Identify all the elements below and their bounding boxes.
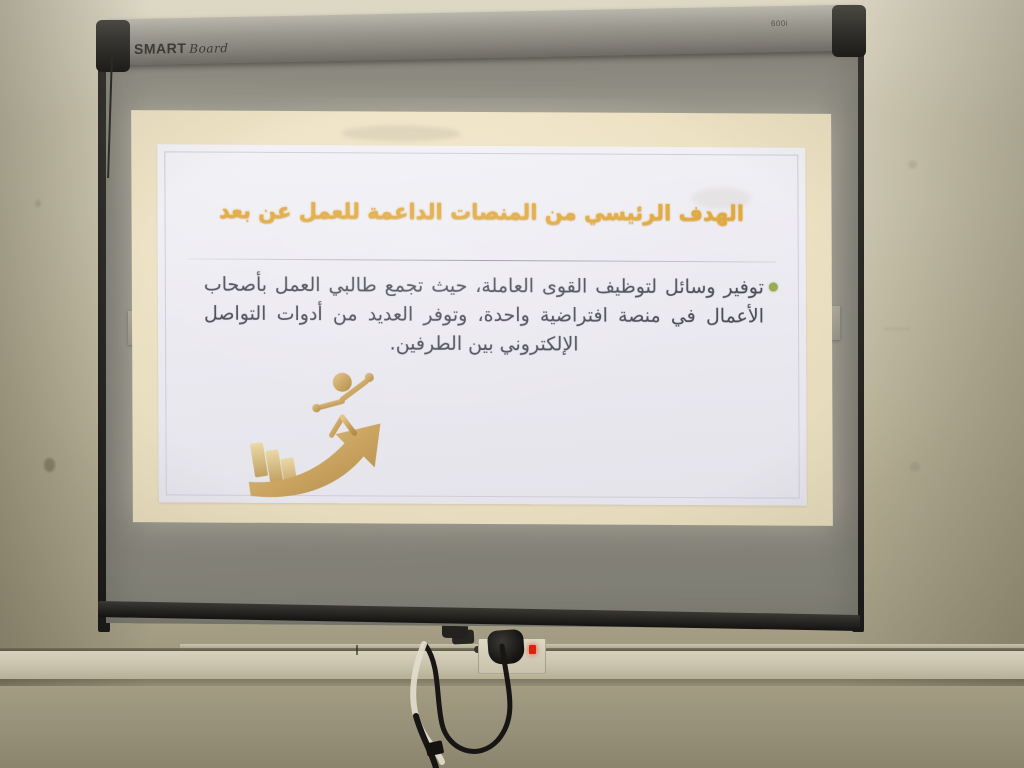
smart-wordmark: SMART [134,40,186,57]
roller-end-cap-right [832,5,866,57]
smart-board-screen: SMARTBoard 600i الهدف الرئيسي من المنصات… [96,8,866,634]
screen-bottom-clip [442,626,468,638]
slide-content-panel: الهدف الرئيسي من المنصات الداعمة للعمل ع… [157,144,807,505]
wall-mark-upper-left [35,200,41,207]
bullet-point-icon [769,283,778,292]
wall-mark-right-lower [910,462,920,472]
slide-body-text: توفير وسائل لتوظيف القوى العاملة، حيث تج… [204,271,764,361]
wall-mark-right [908,160,917,169]
wall-mark-left [44,458,55,472]
classroom-photo-scene: SMARTBoard 600i الهدف الرئيسي من المنصات… [0,0,1024,768]
board-wordmark: Board [189,41,228,56]
hanging-cables [380,620,620,768]
stick-figure-on-rising-arrow-illustration [234,351,425,502]
screen-smudge-a [341,125,461,142]
board-model-text: 600i [771,19,788,28]
slide-title: الهدف الرئيسي من المنصات الداعمة للعمل ع… [157,198,805,225]
projected-slide: الهدف الرئيسي من المنصات الداعمة للعمل ع… [131,110,833,526]
rail-seam [356,645,358,655]
roller-end-cap-left [96,20,130,72]
wall-scuff [884,328,910,330]
slide-bullet-block: توفير وسائل لتوظيف القوى العاملة، حيث تج… [204,271,764,361]
smart-board-logo: SMARTBoard [134,39,228,57]
